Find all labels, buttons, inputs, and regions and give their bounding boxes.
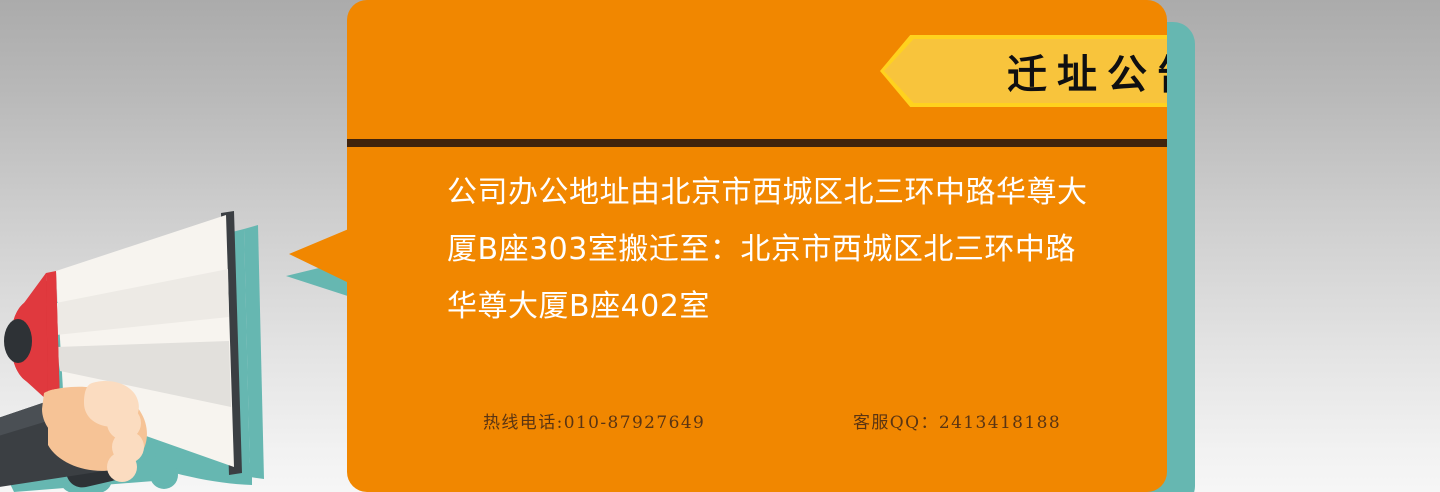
page-title: 迁址公告 [880,35,1167,107]
title-ribbon: 迁址公告 [880,35,1167,107]
qq-text: 客服QQ：2413418188 [853,408,1061,433]
hotline-text: 热线电话:010-87927649 [483,408,705,433]
megaphone-back-nub [4,319,32,363]
header-divider [347,139,1167,147]
finger-4 [107,452,137,482]
announcement-card: 迁址公告 公司办公地址由北京市西城区北三环中路华尊大厦B座303室搬迁至：北京市… [347,0,1167,492]
megaphone-icon [0,195,300,492]
announcement-body: 公司办公地址由北京市西城区北三环中路华尊大厦B座303室搬迁至：北京市西城区北三… [447,164,1095,335]
announcement-banner: 迁址公告 公司办公地址由北京市西城区北三环中路华尊大厦B座303室搬迁至：北京市… [0,0,1440,492]
speech-bubble-tail [289,228,351,284]
contact-footer: 热线电话:010-87927649 客服QQ：2413418188 [347,408,1167,436]
